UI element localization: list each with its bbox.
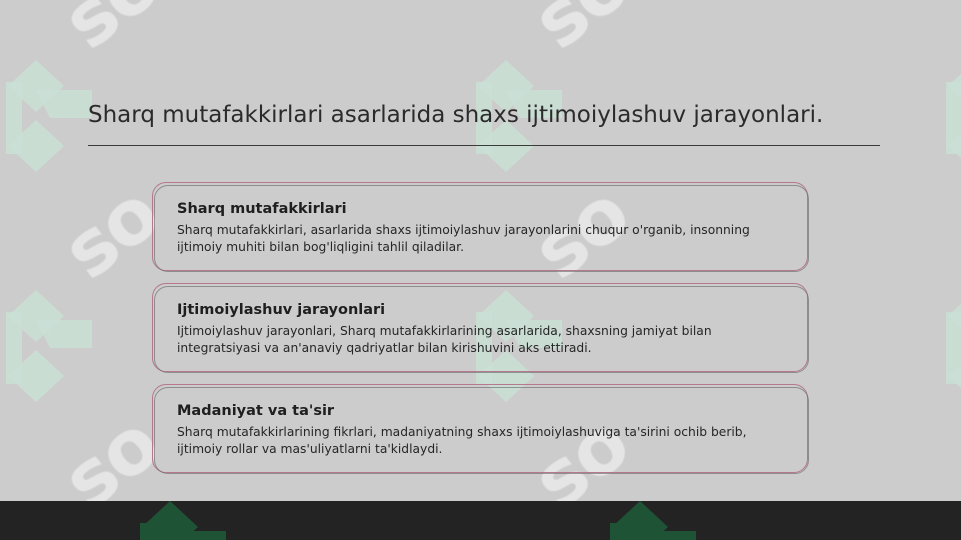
kspo-logo-icon xyxy=(946,60,961,172)
watermark-text: so xyxy=(46,0,174,66)
kspo-logo-icon xyxy=(6,290,92,402)
card-title: Ijtimoiylashuv jarayonlari xyxy=(177,300,785,320)
footer-watermark-layer: sososososo xyxy=(0,501,961,540)
card-title: Madaniyat va ta'sir xyxy=(177,401,785,421)
heading-block: Sharq mutafakkirlari asarlarida shaxs ij… xyxy=(88,100,880,146)
card-title: Sharq mutafakkirlari xyxy=(177,199,785,219)
card-body: Sharq mutafakkirlari, asarlarida shaxs i… xyxy=(177,222,785,256)
content-card[interactable]: Ijtimoiylashuv jarayonlari Ijtimoiylashu… xyxy=(152,283,808,372)
card-body: Ijtimoiylashuv jarayonlari, Sharq mutafa… xyxy=(177,323,785,357)
footer-watermark-text: so xyxy=(186,501,314,507)
watermark-tile: so xyxy=(940,0,961,200)
kspo-logo-icon xyxy=(6,60,92,172)
footer-watermark-tile: so xyxy=(470,501,800,540)
footer-watermark-text: so xyxy=(656,501,784,507)
presentation-slide: sosososososososososososososososososososo… xyxy=(0,0,961,540)
footer-bar: sososososo xyxy=(0,501,961,540)
footer-watermark-tile: so xyxy=(940,501,961,540)
watermark-text: so xyxy=(516,0,644,66)
footer-watermark-tile: so xyxy=(0,501,330,540)
title-divider xyxy=(88,145,880,146)
card-body: Sharq mutafakkirlarining fikrlari, madan… xyxy=(177,424,785,458)
kspo-logo-icon xyxy=(610,501,696,540)
content-card-list: Sharq mutafakkirlari Sharq mutafakkirlar… xyxy=(152,182,808,473)
content-card[interactable]: Madaniyat va ta'sir Sharq mutafakkirlari… xyxy=(152,384,808,473)
page-title: Sharq mutafakkirlari asarlarida shaxs ij… xyxy=(88,100,880,130)
kspo-logo-icon xyxy=(140,501,226,540)
kspo-logo-icon xyxy=(946,290,961,402)
content-card[interactable]: Sharq mutafakkirlari Sharq mutafakkirlar… xyxy=(152,182,808,271)
watermark-tile: so xyxy=(940,230,961,430)
